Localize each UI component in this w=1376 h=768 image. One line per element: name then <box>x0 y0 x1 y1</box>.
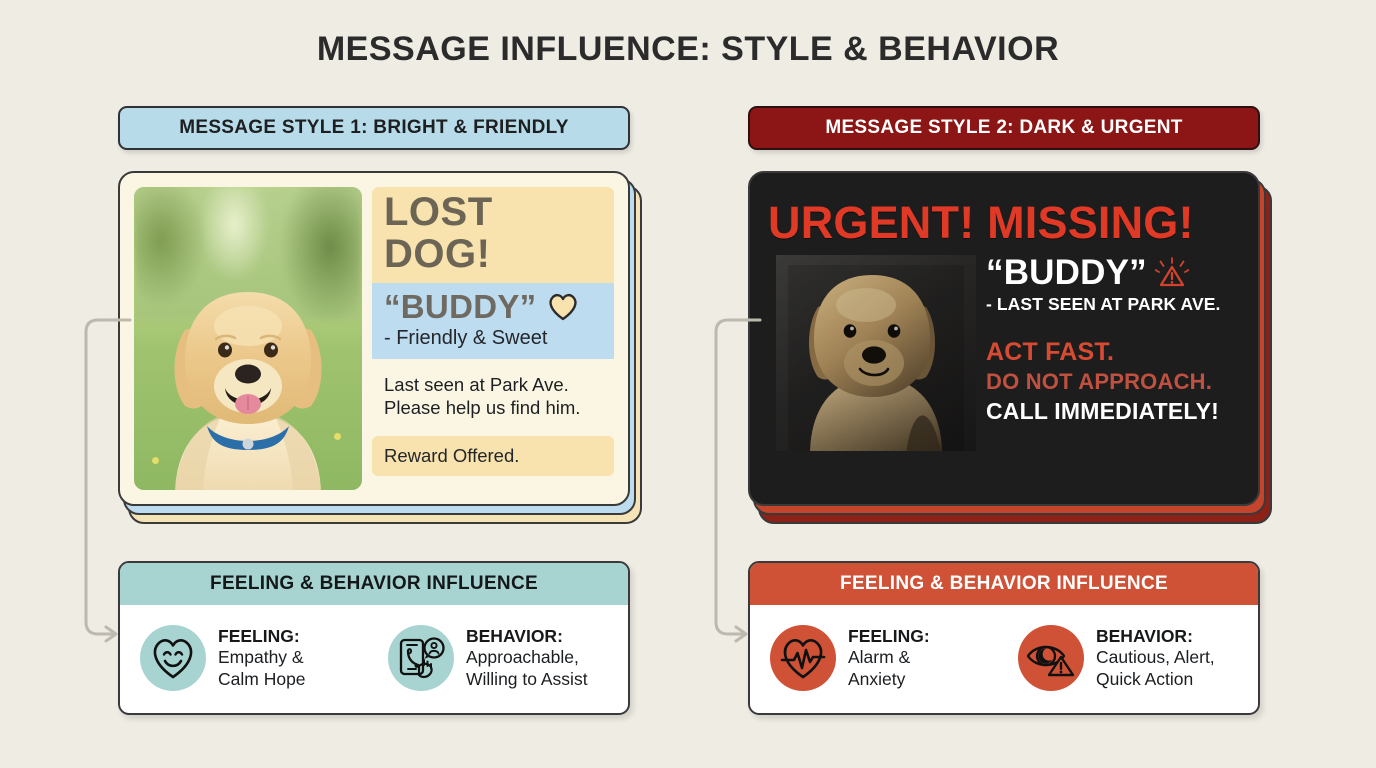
golden-retriever-illustration <box>159 264 337 490</box>
right-feeling-text: FEELING: Alarm & Anxiety <box>848 626 930 690</box>
right-behavior-text: BEHAVIOR: Cautious, Alert, Quick Action <box>1096 626 1215 690</box>
right-feeling-value-line2: Anxiety <box>848 669 930 690</box>
heartbeat-heart-icon <box>770 625 836 691</box>
right-influence-panel: FEELING & BEHAVIOR INFLUENCE FEELING: Al… <box>748 561 1260 715</box>
style-banner-bright-label: MESSAGE STYLE 1: BRIGHT & FRIENDLY <box>179 117 569 139</box>
left-feeling-value-line2: Calm Hope <box>218 669 306 690</box>
right-behavior-label: BEHAVIOR: <box>1096 626 1215 647</box>
left-poster-card: LOST DOG! “BUDDY” - Friendly & Sweet Las… <box>118 171 630 506</box>
right-poster-dog-name: “BUDDY” <box>986 253 1147 293</box>
left-influence-panel: FEELING & BEHAVIOR INFLUENCE FEELING: Em… <box>118 561 630 715</box>
style-banner-bright: MESSAGE STYLE 1: BRIGHT & FRIENDLY <box>118 106 630 150</box>
right-behavior-value-line1: Cautious, Alert, <box>1096 647 1215 668</box>
golden-retriever-dark-illustration <box>788 265 964 451</box>
warning-triangle-icon <box>1155 257 1189 289</box>
left-behavior-item: BEHAVIOR: Approachable, Willing to Assis… <box>388 625 614 691</box>
right-feeling-value-line1: Alarm & <box>848 647 930 668</box>
left-panel-body: FEELING: Empathy & Calm Hope <box>120 605 628 713</box>
heart-icon <box>547 292 579 321</box>
left-feeling-label: FEELING: <box>218 626 306 647</box>
left-poster-body: Last seen at Park Ave. Please help us fi… <box>372 359 614 420</box>
left-poster-tagline: - Friendly & Sweet <box>384 327 602 350</box>
right-dog-photo <box>776 255 976 451</box>
left-poster-reward: Reward Offered. <box>372 436 614 476</box>
eye-alert-icon <box>1018 625 1084 691</box>
left-poster-stack: LOST DOG! “BUDDY” - Friendly & Sweet Las… <box>118 171 630 506</box>
right-poster-no-approach: DO NOT APPROACH. <box>986 369 1246 395</box>
left-panel-header: FEELING & BEHAVIOR INFLUENCE <box>120 563 628 605</box>
right-behavior-item: BEHAVIOR: Cautious, Alert, Quick Action <box>1018 625 1244 691</box>
right-poster-act: ACT FAST. <box>986 338 1246 367</box>
right-panel-header: FEELING & BEHAVIOR INFLUENCE <box>750 563 1258 605</box>
left-poster-dog-name: “BUDDY” <box>384 288 536 326</box>
phone-tap-contact-icon <box>388 625 454 691</box>
left-column: MESSAGE STYLE 1: BRIGHT & FRIENDLY <box>118 106 630 715</box>
left-behavior-value-line2: Willing to Assist <box>466 669 588 690</box>
left-dog-photo <box>134 187 362 490</box>
left-feeling-text: FEELING: Empathy & Calm Hope <box>218 626 306 690</box>
left-poster-text: LOST DOG! “BUDDY” - Friendly & Sweet Las… <box>372 187 614 490</box>
right-poster-subline: - LAST SEEN AT PARK AVE. <box>986 294 1246 315</box>
right-feeling-item: FEELING: Alarm & Anxiety <box>770 625 996 691</box>
right-feeling-label: FEELING: <box>848 626 930 647</box>
left-behavior-text: BEHAVIOR: Approachable, Willing to Assis… <box>466 626 588 690</box>
right-poster-headline: URGENT! MISSING! <box>768 197 1194 249</box>
right-poster-call: CALL IMMEDIATELY! <box>986 398 1246 425</box>
left-poster-headline: LOST DOG! <box>372 187 614 283</box>
right-poster-card: URGENT! MISSING! <box>748 171 1260 506</box>
right-behavior-value-line2: Quick Action <box>1096 669 1215 690</box>
right-poster-text: “BUDDY” - LAST SEEN AT PARK AVE. ACT FAS… <box>986 253 1246 425</box>
left-feeling-value-line1: Empathy & <box>218 647 306 668</box>
right-column: MESSAGE STYLE 2: DARK & URGENT URGENT! M… <box>748 106 1260 715</box>
left-behavior-value-line1: Approachable, <box>466 647 588 668</box>
left-behavior-label: BEHAVIOR: <box>466 626 588 647</box>
left-feeling-item: FEELING: Empathy & Calm Hope <box>140 625 366 691</box>
smiling-heart-icon <box>140 625 206 691</box>
left-poster-body-line2: Please help us find him. <box>384 396 602 420</box>
right-panel-body: FEELING: Alarm & Anxiety <box>750 605 1258 713</box>
style-banner-urgent: MESSAGE STYLE 2: DARK & URGENT <box>748 106 1260 150</box>
style-banner-urgent-label: MESSAGE STYLE 2: DARK & URGENT <box>825 117 1182 139</box>
right-poster-stack: URGENT! MISSING! <box>748 171 1260 506</box>
left-poster-body-line1: Last seen at Park Ave. <box>384 373 602 397</box>
page-title: MESSAGE INFLUENCE: STYLE & BEHAVIOR <box>0 30 1376 69</box>
left-poster-name-band: “BUDDY” - Friendly & Sweet <box>372 283 614 359</box>
